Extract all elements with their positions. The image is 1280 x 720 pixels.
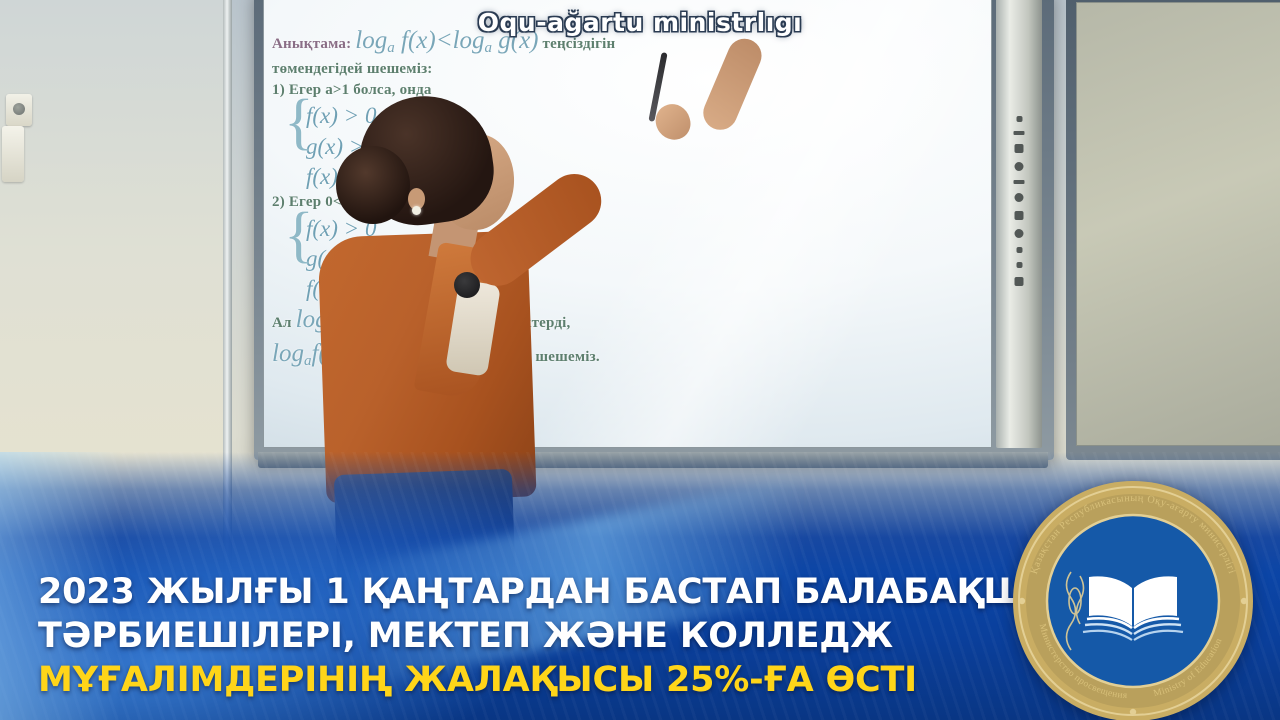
headline: 2023 жылғы 1 қаңтардан бастап балабақша … <box>38 570 928 702</box>
light-switch <box>2 126 24 182</box>
power-icon[interactable] <box>1016 116 1022 122</box>
headline-line-1: 2023 жылғы 1 қаңтардан бастап балабақша <box>38 570 928 614</box>
power-socket <box>6 94 32 126</box>
highlighter-icon[interactable] <box>1015 211 1024 220</box>
save-icon[interactable] <box>1015 277 1024 286</box>
secondary-whiteboard-surface <box>1076 2 1280 446</box>
pen-icon[interactable] <box>1015 193 1024 202</box>
emblem-dot-bottom <box>1130 709 1136 715</box>
lower-third-banner: 2023 жылғы 1 қаңтардан бастап балабақша … <box>0 452 1280 720</box>
whiteboard-toolbar-icons[interactable] <box>1014 116 1025 286</box>
video-frame: Анықтама: loga f(x)<loga g(x) теңсіздігі… <box>0 0 1280 720</box>
secondary-whiteboard <box>1066 0 1280 460</box>
pointer-icon[interactable] <box>1016 262 1022 268</box>
program-title: Oqu-ağartu ministrlıgı <box>0 8 1280 37</box>
ministry-emblem: Қазақстан Республикасының Оқу-ағарту мин… <box>1008 476 1258 720</box>
teacher-earring <box>412 206 421 215</box>
eraser-icon[interactable] <box>1015 229 1024 238</box>
shape-icon[interactable] <box>1016 247 1022 253</box>
camera-icon[interactable] <box>1015 144 1024 153</box>
teacher-hair-bun <box>336 146 410 224</box>
record-icon[interactable] <box>1015 162 1024 171</box>
headline-line-3: мұғалімдерінің жалақысы 25%-ға өсті <box>38 658 928 702</box>
emblem-dot-left <box>1019 598 1025 604</box>
keyboard-icon[interactable] <box>1014 180 1025 184</box>
headline-line-2: тәрбиешілері, мектеп және колледж <box>38 614 928 658</box>
menu-icon[interactable] <box>1014 131 1025 135</box>
whiteboard-toolbar-strip[interactable] <box>996 0 1042 448</box>
emblem-dot-right <box>1241 598 1247 604</box>
